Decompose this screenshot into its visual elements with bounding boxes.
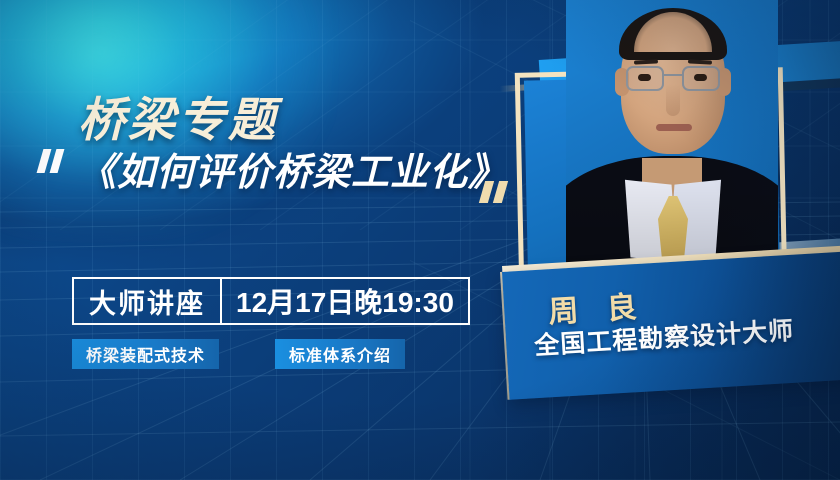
lecture-info-box: 大师讲座 12月17日晚19:30	[72, 277, 470, 325]
lecture-datetime: 12月17日晚19:30	[222, 279, 468, 323]
headline-block: 桥梁专题 《如何评价桥梁工业化》	[78, 96, 538, 213]
photo-shading	[566, 0, 778, 292]
portrait-composition	[498, 0, 840, 480]
close-quote-icon	[482, 181, 510, 203]
topic-tag[interactable]: 标准体系介绍	[275, 339, 405, 369]
speaker-portrait-photo	[566, 0, 778, 292]
open-quote-icon	[40, 149, 66, 173]
poster-canvas: 桥梁专题 《如何评价桥梁工业化》 大师讲座 12月17日晚19:30 桥梁装配式…	[0, 0, 840, 480]
speaker-nameplate: 周 良 全国工程勘察设计大师	[502, 251, 840, 400]
page-title: 桥梁专题	[78, 96, 538, 143]
topic-tag[interactable]: 桥梁装配式技术	[72, 339, 219, 369]
page-subtitle: 《如何评价桥梁工业化》	[78, 153, 507, 195]
topic-tag-list: 桥梁装配式技术 标准体系介绍	[72, 339, 405, 369]
lecture-type-label: 大师讲座	[74, 279, 222, 323]
subtitle-row: 《如何评价桥梁工业化》	[78, 155, 538, 213]
